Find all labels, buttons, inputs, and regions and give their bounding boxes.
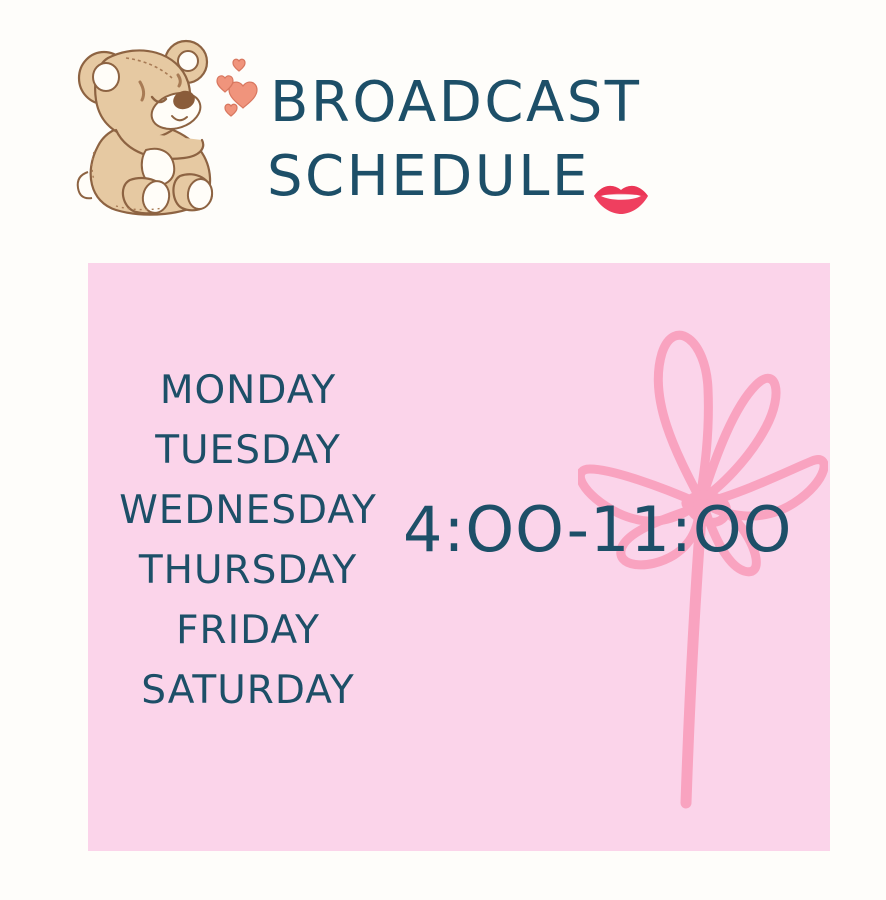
poster-canvas: BROADCAST SCHEDULE [0,0,886,900]
days-list: MONDAY TUESDAY WEDNESDAY THURSDAY FRIDAY… [88,361,408,721]
header: BROADCAST SCHEDULE [0,0,886,263]
lips-icon [592,160,650,194]
day-item: FRIDAY [88,601,408,661]
time-range: 4:OO-11:OO [403,495,823,565]
schedule-panel: MONDAY TUESDAY WEDNESDAY THURSDAY FRIDAY… [88,263,830,851]
day-item: THURSDAY [88,541,408,601]
flower-line-art-icon [578,303,828,843]
title-line-broadcast: BROADCAST [262,66,682,140]
day-item: SATURDAY [88,661,408,721]
page-title: BROADCAST SCHEDULE [262,66,682,214]
time-range-text: 4:OO-11:OO [403,495,823,565]
teddy-bear-icon [68,34,228,219]
day-item: WEDNESDAY [88,481,408,541]
title-line-schedule: SCHEDULE [267,140,590,214]
title-line-schedule-row: SCHEDULE [262,140,682,214]
day-item: MONDAY [88,361,408,421]
day-item: TUESDAY [88,421,408,481]
